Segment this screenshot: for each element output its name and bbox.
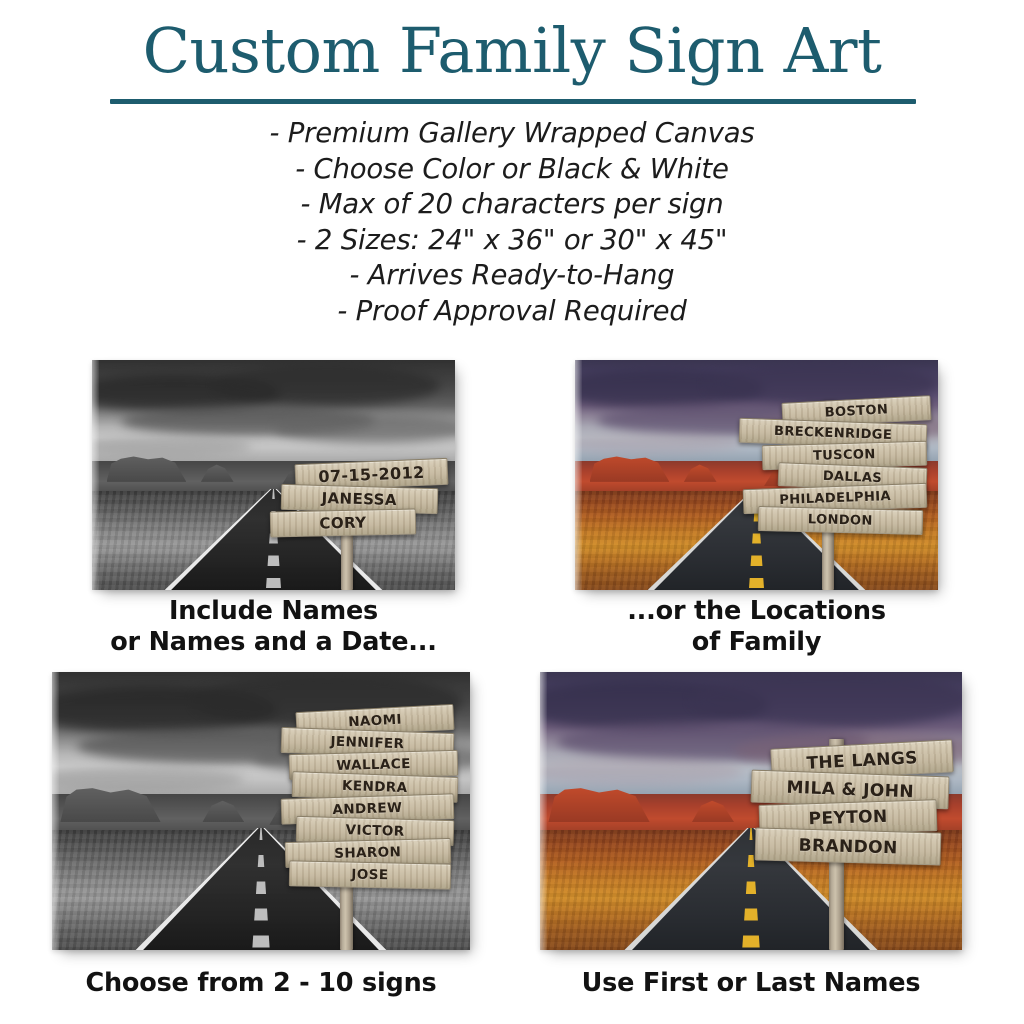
- feature-item: - 2 Sizes: 24" x 36" or 30" x 45": [0, 223, 1024, 259]
- product-canvas-names-and-date: 07-15-2012 JANESSA CORY: [92, 360, 455, 590]
- feature-item: - Premium Gallery Wrapped Canvas: [0, 116, 1024, 152]
- sign-board: CORY: [270, 509, 416, 538]
- feature-list: - Premium Gallery Wrapped Canvas - Choos…: [0, 116, 1024, 329]
- canvas-artwork: 07-15-2012 JANESSA CORY: [92, 360, 455, 590]
- caption-bottom-left: Choose from 2 - 10 signs: [52, 968, 470, 999]
- product-listing-image: Custom Family Sign Art - Premium Gallery…: [0, 0, 1024, 1024]
- canvas-artwork: NAOMI JENNIFER WALLACE KENDRA ANDREW VIC…: [52, 672, 470, 950]
- feature-item: - Arrives Ready-to-Hang: [0, 258, 1024, 294]
- canvas-artwork: THE LANGS MILA & JOHN PEYTON BRANDON: [540, 672, 962, 950]
- signpost-signs: BOSTON BRECKENRIDGE TUSCON DALLAS PHILAD…: [735, 399, 931, 533]
- title-divider: [110, 99, 916, 104]
- page-title: Custom Family Sign Art: [0, 18, 1024, 83]
- caption-bottom-right: Use First or Last Names: [540, 968, 962, 999]
- caption-top-right: ...or the Locations of Family: [575, 596, 938, 658]
- product-canvas-first-or-last-names: THE LANGS MILA & JOHN PEYTON BRANDON: [540, 672, 962, 950]
- feature-item: - Max of 20 characters per sign: [0, 187, 1024, 223]
- sign-board: BRANDON: [755, 828, 942, 866]
- signpost-signs: NAOMI JENNIFER WALLACE KENDRA ANDREW VIC…: [278, 708, 462, 888]
- signpost-signs: 07-15-2012 JANESSA CORY: [270, 461, 448, 536]
- canvas-artwork: BOSTON BRECKENRIDGE TUSCON DALLAS PHILAD…: [575, 360, 938, 590]
- feature-item: - Proof Approval Required: [0, 294, 1024, 330]
- caption-top-left: Include Names or Names and a Date...: [92, 596, 455, 658]
- signpost-signs: THE LANGS MILA & JOHN PEYTON BRANDON: [751, 744, 954, 863]
- product-canvas-eight-signs: NAOMI JENNIFER WALLACE KENDRA ANDREW VIC…: [52, 672, 470, 950]
- feature-item: - Choose Color or Black & White: [0, 152, 1024, 188]
- sign-board: JOSE: [288, 860, 450, 889]
- product-canvas-locations: BOSTON BRECKENRIDGE TUSCON DALLAS PHILAD…: [575, 360, 938, 590]
- sign-board: LONDON: [758, 506, 923, 535]
